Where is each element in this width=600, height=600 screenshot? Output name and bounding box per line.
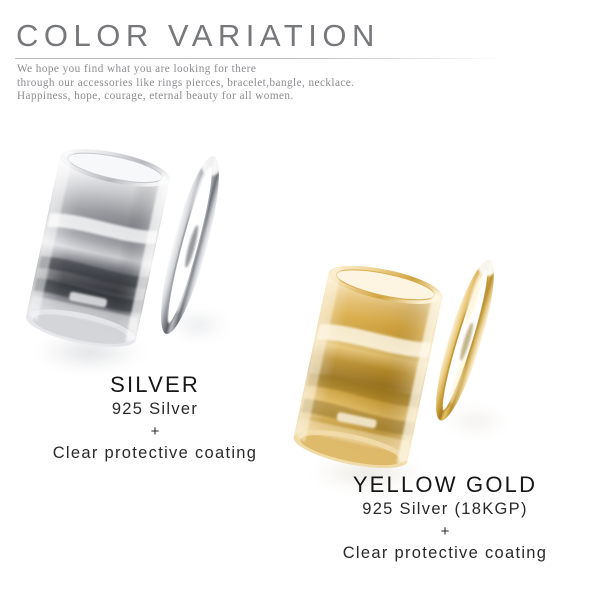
silver-plus-separator: + (10, 421, 300, 442)
silver-product-name: SILVER (10, 372, 300, 398)
page-title: COLOR VARIATION (16, 20, 380, 51)
intro-paragraph: We hope you find what you are looking fo… (17, 63, 354, 104)
yellow-gold-rings-photo (280, 235, 540, 505)
gold-rings-illustration (280, 235, 540, 505)
silver-rings-photo (20, 120, 270, 385)
gold-caption: YELLOW GOLD 925 Silver (18KGP) + Clear p… (300, 472, 590, 565)
silver-caption: SILVER 925 Silver + Clear protective coa… (10, 372, 300, 465)
intro-line-3: Happiness, hope, courage, eternal beauty… (17, 90, 354, 104)
color-variation-page: COLOR VARIATION We hope you find what yo… (0, 0, 600, 600)
gold-plus-separator: + (300, 521, 590, 542)
gold-coating: Clear protective coating (300, 542, 590, 565)
silver-rings-illustration (20, 120, 270, 385)
gold-material: 925 Silver (18KGP) (300, 498, 590, 521)
silver-material: 925 Silver (10, 398, 300, 421)
title-divider (15, 58, 505, 59)
intro-line-1: We hope you find what you are looking fo… (17, 63, 354, 77)
intro-line-2: through our accessories like rings pierc… (17, 77, 354, 91)
silver-coating: Clear protective coating (10, 442, 300, 465)
gold-product-name: YELLOW GOLD (300, 472, 590, 498)
